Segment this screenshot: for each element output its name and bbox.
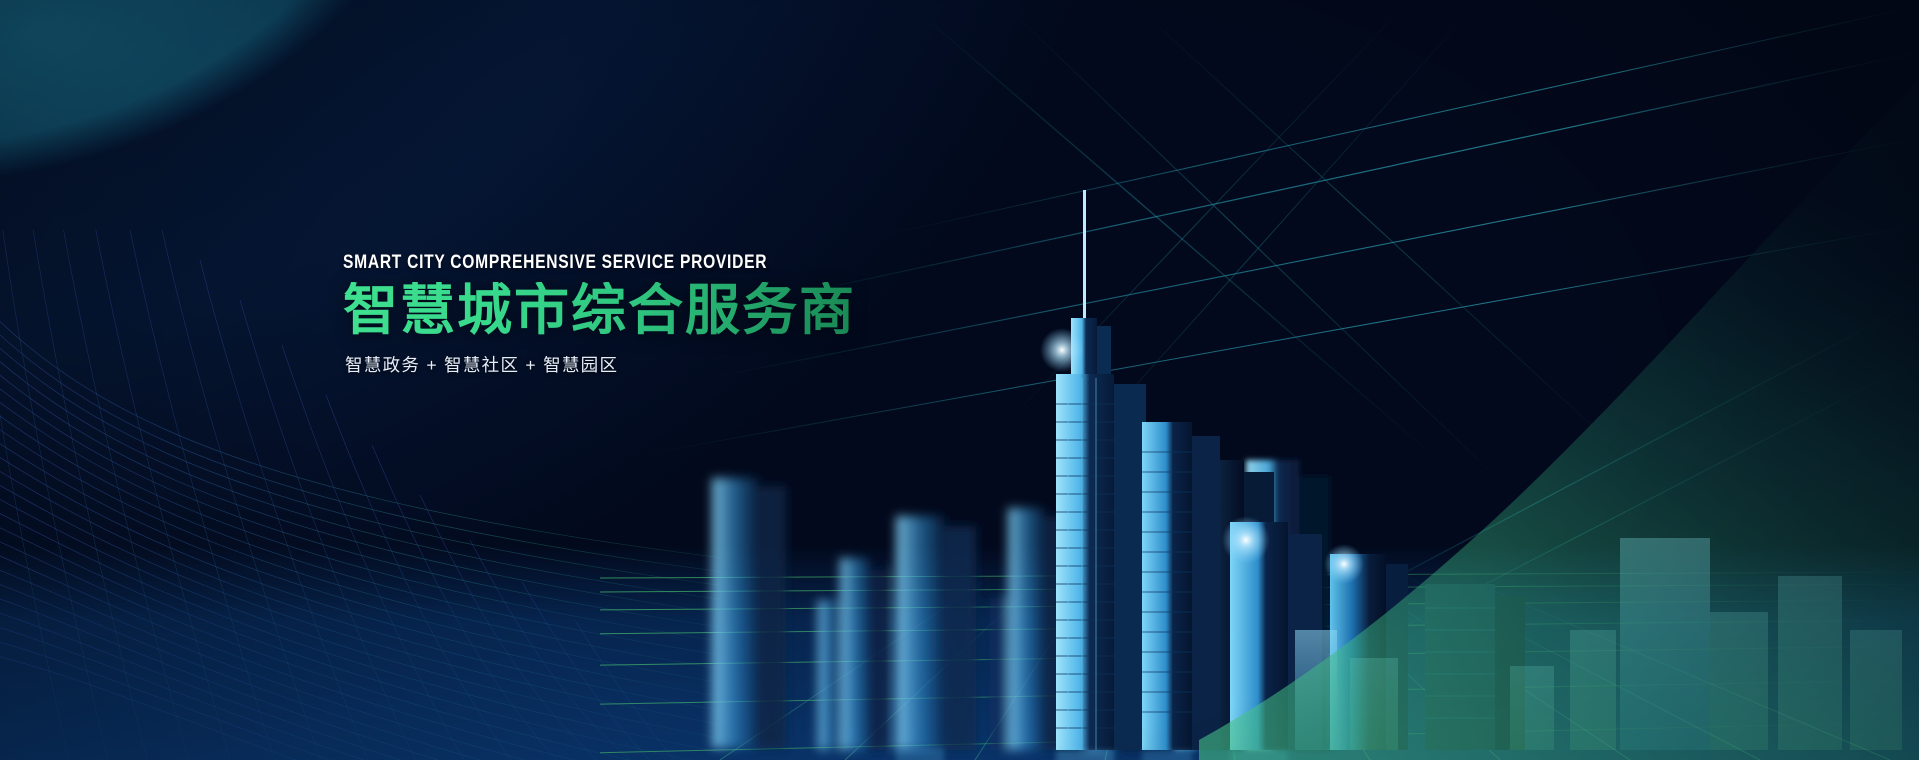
hero-headline: 智慧城市综合服务商 [343, 282, 873, 340]
green-curve-overlay [1199, 0, 1919, 760]
hero-banner: SMART CITY COMPREHENSIVE SERVICE PROVIDE… [0, 0, 1919, 760]
hero-subline: 智慧政务 + 智慧社区 + 智慧园区 [345, 352, 873, 377]
hero-eyebrow: SMART CITY COMPREHENSIVE SERVICE PROVIDE… [343, 252, 767, 273]
hero-text-block: SMART CITY COMPREHENSIVE SERVICE PROVIDE… [343, 252, 873, 377]
